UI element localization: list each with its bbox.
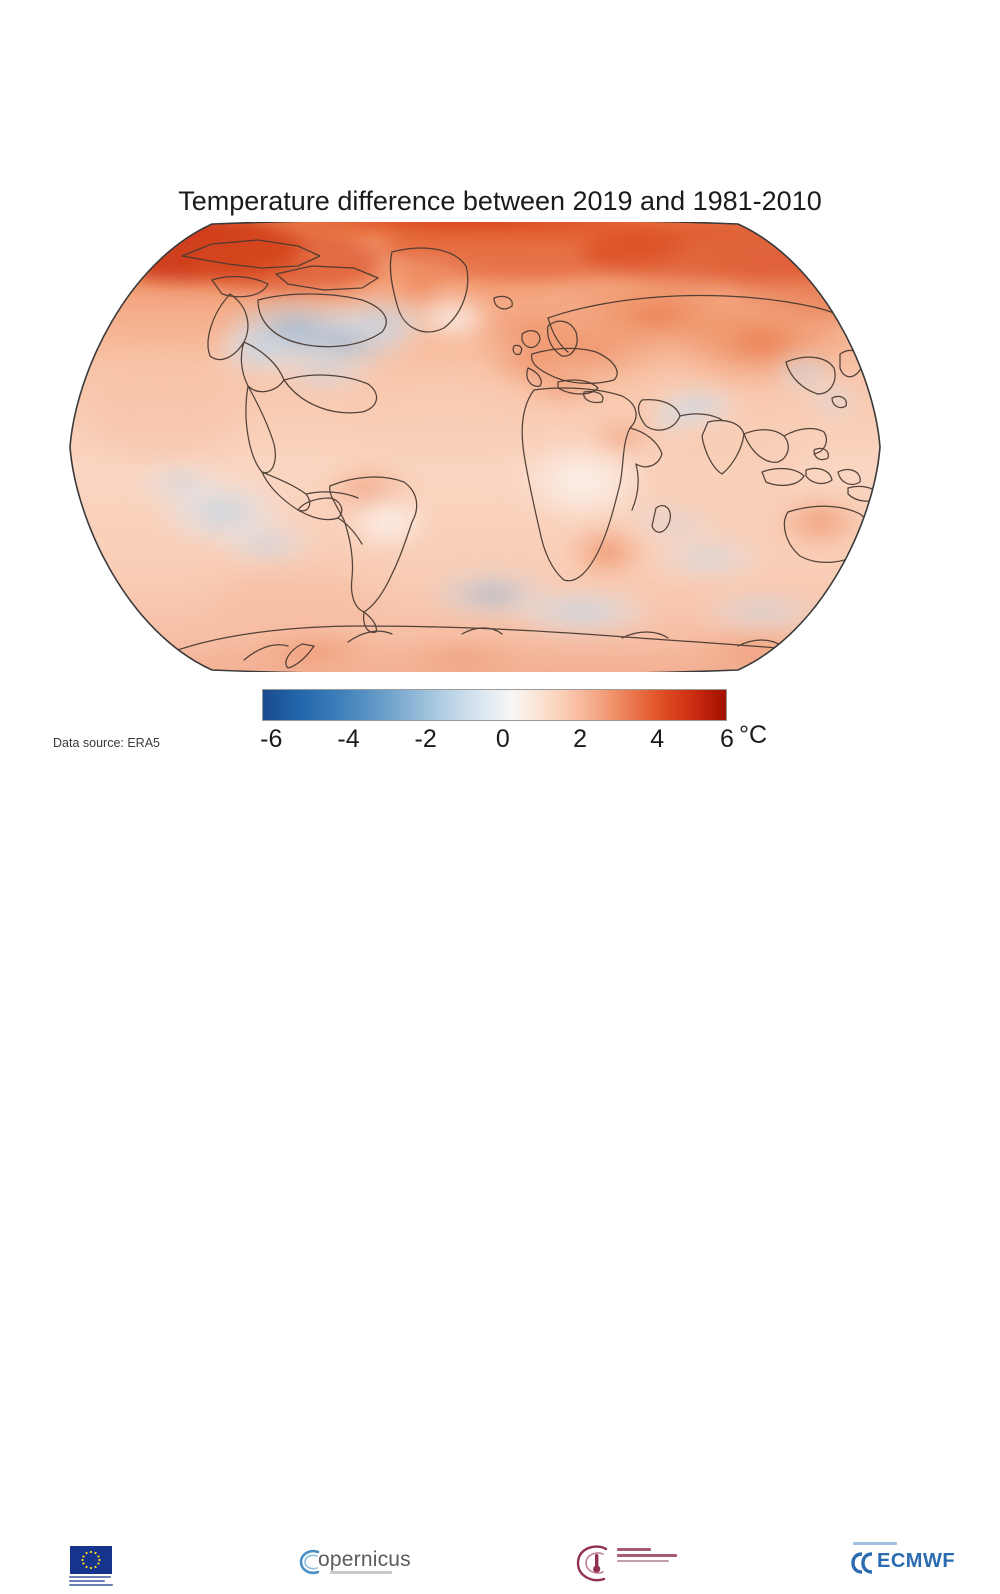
european-commission-logo <box>53 1540 145 1594</box>
colorbar-unit-label: °C <box>739 721 767 750</box>
colorbar-tick-0: 0 <box>496 725 510 754</box>
data-source-label: Data source: ERA5 <box>53 736 160 750</box>
copernicus-tagline <box>330 1571 392 1574</box>
world-map <box>62 222 888 672</box>
eu-stars-icon <box>70 1546 112 1574</box>
ecmwf-wordmark: ECMWF <box>877 1550 955 1573</box>
ecmwf-implemented-by-label <box>853 1542 897 1545</box>
colorbar-tick--4: -4 <box>337 725 359 754</box>
map-svg <box>62 222 888 672</box>
colorbar-tick-6: 6 <box>720 725 734 754</box>
copernicus-logo: opernicus <box>296 1546 408 1584</box>
colorbar-tick--2: -2 <box>415 725 437 754</box>
ecmwf-logo: ECMWF <box>851 1546 959 1580</box>
colorbar-tick--6: -6 <box>260 725 282 754</box>
c3s-thermometer-icon <box>570 1542 614 1584</box>
eu-flag-icon <box>70 1546 112 1574</box>
copernicus-climate-change-service-logo <box>570 1540 688 1586</box>
colorbar-tick-2: 2 <box>573 725 587 754</box>
c3s-wordmark <box>617 1548 677 1565</box>
colorbar-tick-4: 4 <box>650 725 664 754</box>
copernicus-wordmark: opernicus <box>318 1548 411 1572</box>
colorbar <box>262 689 727 721</box>
logo-bar: opernicus ECMWF <box>0 768 1000 830</box>
map-data-layer <box>62 222 888 672</box>
page-title: Temperature difference between 2019 and … <box>0 186 1000 217</box>
eu-wordmark <box>69 1576 115 1590</box>
climate-anomaly-figure: Temperature difference between 2019 and … <box>0 0 1000 1000</box>
ecmwf-mark-icon <box>851 1552 875 1574</box>
colorbar-ticks: -6 -4 -2 0 2 4 6 <box>262 725 727 759</box>
colorbar-gradient <box>262 689 727 721</box>
